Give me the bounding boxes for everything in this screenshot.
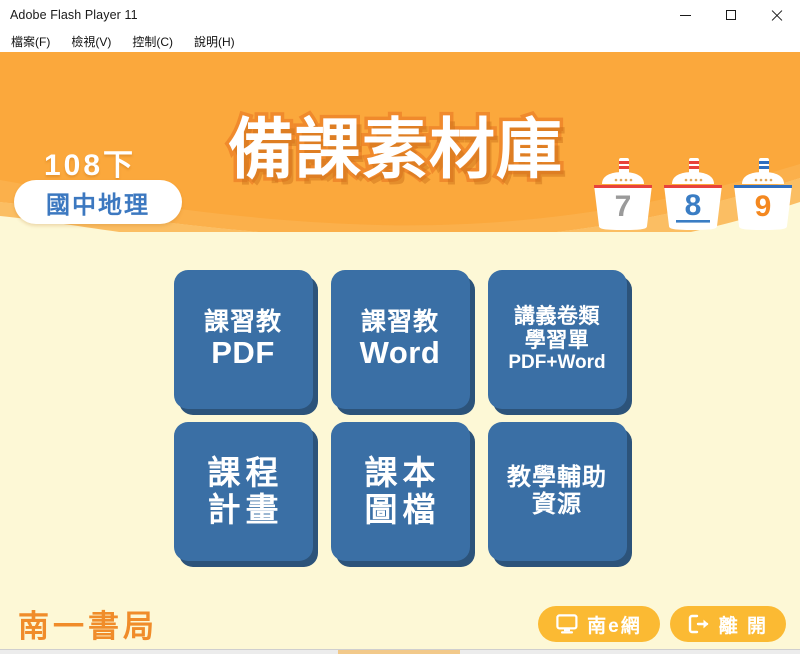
- tile-worksheets[interactable]: 講義卷類 學習單 PDF+Word: [488, 270, 627, 409]
- nani-web-label: 南e網: [587, 611, 642, 638]
- close-icon: [771, 9, 783, 21]
- boat-icon-9: 9: [732, 156, 794, 232]
- maximize-icon: [726, 10, 736, 20]
- bottom-scroll-thumb[interactable]: [338, 650, 460, 654]
- tile-teaching-aids-line1: 教學輔助: [507, 465, 607, 492]
- menu-bar: 檔案(F) 檢視(V) 控制(C) 說明(H): [0, 30, 800, 52]
- tile-textbook-images-line2: 圖檔: [360, 492, 441, 529]
- exit-label: 離 開: [719, 611, 768, 638]
- tile-worksheets-line2: 學習單: [525, 329, 590, 353]
- grade-tab-9[interactable]: 9: [732, 156, 794, 232]
- menu-item-view[interactable]: 檢視(V): [69, 32, 113, 51]
- tile-lesson-pdf[interactable]: 課習教 PDF: [174, 270, 313, 409]
- minimize-icon: [680, 15, 691, 16]
- tile-teaching-aids[interactable]: 教學輔助 資源: [488, 422, 627, 561]
- term-label: 108下: [44, 140, 136, 184]
- tile-worksheets-line3: PDF+Word: [508, 352, 605, 373]
- tile-lesson-word[interactable]: 課習教 Word: [331, 270, 470, 409]
- grid-row-1: 課習教 PDF 課習教 Word 講義卷類 學習單 PDF+Word: [0, 270, 800, 409]
- header-banner: 108下 國中地理 備課素材庫: [0, 52, 800, 232]
- tile-lesson-pdf-line1: 課習教: [204, 308, 282, 336]
- menu-item-control[interactable]: 控制(C): [130, 32, 175, 51]
- svg-text:7: 7: [615, 190, 632, 223]
- exit-button[interactable]: 離 開: [670, 606, 786, 642]
- maximize-button[interactable]: [708, 0, 754, 30]
- tile-course-plan[interactable]: 課程 計畫: [174, 422, 313, 561]
- footer-bar: 南一書局 南e網: [0, 590, 800, 654]
- nani-web-button[interactable]: 南e網: [538, 606, 660, 642]
- menu-item-file[interactable]: 檔案(F): [9, 32, 52, 51]
- page-title: 備課素材庫: [228, 116, 563, 182]
- close-button[interactable]: [754, 0, 800, 30]
- grade-8-selected-underline: [676, 220, 710, 223]
- minimize-button[interactable]: [662, 0, 708, 30]
- tile-worksheets-line1: 講義卷類: [514, 305, 600, 329]
- subject-label: 國中地理: [46, 185, 150, 220]
- bottom-scroll-strip[interactable]: [0, 649, 800, 654]
- tile-textbook-images-line1: 課本: [360, 455, 441, 492]
- boat-icon-8: 8: [662, 156, 724, 232]
- menu-item-help[interactable]: 說明(H): [192, 32, 237, 51]
- tile-course-plan-line1: 課程: [203, 455, 284, 492]
- tile-lesson-word-line1: 課習教: [361, 308, 439, 336]
- grade-tab-7[interactable]: 7: [592, 156, 654, 232]
- window-title: Adobe Flash Player 11: [0, 8, 138, 22]
- tile-textbook-images[interactable]: 課本 圖檔: [331, 422, 470, 561]
- footer-actions: 南e網 離 開: [538, 606, 786, 642]
- svg-text:8: 8: [685, 189, 702, 222]
- grade-tabs: 7 8: [592, 156, 792, 232]
- tile-lesson-word-line2: Word: [360, 336, 441, 371]
- monitor-icon: [556, 614, 578, 634]
- exit-icon: [688, 614, 710, 634]
- grade-tab-8[interactable]: 8: [662, 156, 724, 232]
- flash-player-window: Adobe Flash Player 11 檔案(F) 檢視(V) 控制(C) …: [0, 0, 800, 654]
- window-controls: [662, 0, 800, 30]
- grid-row-2: 課程 計畫 課本 圖檔 教學輔助 資源: [0, 422, 800, 561]
- boat-icon-7: 7: [592, 156, 654, 232]
- resource-grid: 課習教 PDF 課習教 Word 講義卷類 學習單 PDF+Word 課程 計畫: [0, 270, 800, 561]
- subject-badge: 國中地理: [14, 180, 182, 224]
- tile-lesson-pdf-line2: PDF: [211, 336, 275, 371]
- flash-stage: 108下 國中地理 備課素材庫: [0, 52, 800, 654]
- brand-logo: 南一書局: [18, 601, 158, 646]
- tile-teaching-aids-line2: 資源: [532, 492, 582, 519]
- title-bar: Adobe Flash Player 11: [0, 0, 800, 30]
- tile-course-plan-line2: 計畫: [203, 492, 284, 529]
- svg-text:9: 9: [755, 190, 772, 223]
